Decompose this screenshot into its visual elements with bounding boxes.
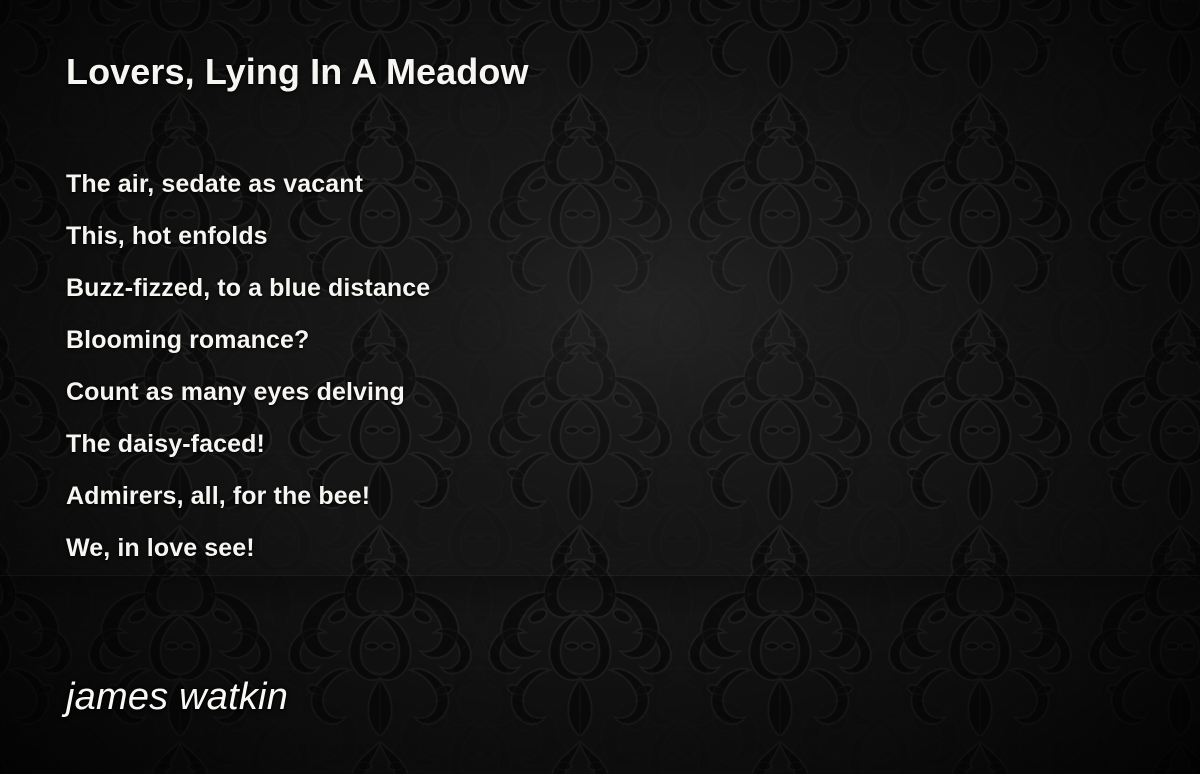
poem-line: Admirers, all, for the bee! — [66, 470, 430, 522]
poem-line: Count as many eyes delving — [66, 366, 430, 418]
poem-card: Lovers, Lying In A Meadow The air, sedat… — [0, 0, 1200, 774]
poem-line: We, in love see! — [66, 522, 430, 574]
page-title: Lovers, Lying In A Meadow — [66, 52, 529, 92]
author-signature: james watkin — [66, 676, 288, 719]
poem-line: The daisy-faced! — [66, 418, 430, 470]
poem-line: Buzz-fizzed, to a blue distance — [66, 262, 430, 314]
poem-line: The air, sedate as vacant — [66, 158, 430, 210]
poem-content: Lovers, Lying In A Meadow The air, sedat… — [0, 0, 1200, 774]
poem-body: The air, sedate as vacant This, hot enfo… — [66, 158, 430, 574]
poem-line: This, hot enfolds — [66, 210, 430, 262]
poem-line: Blooming romance? — [66, 314, 430, 366]
